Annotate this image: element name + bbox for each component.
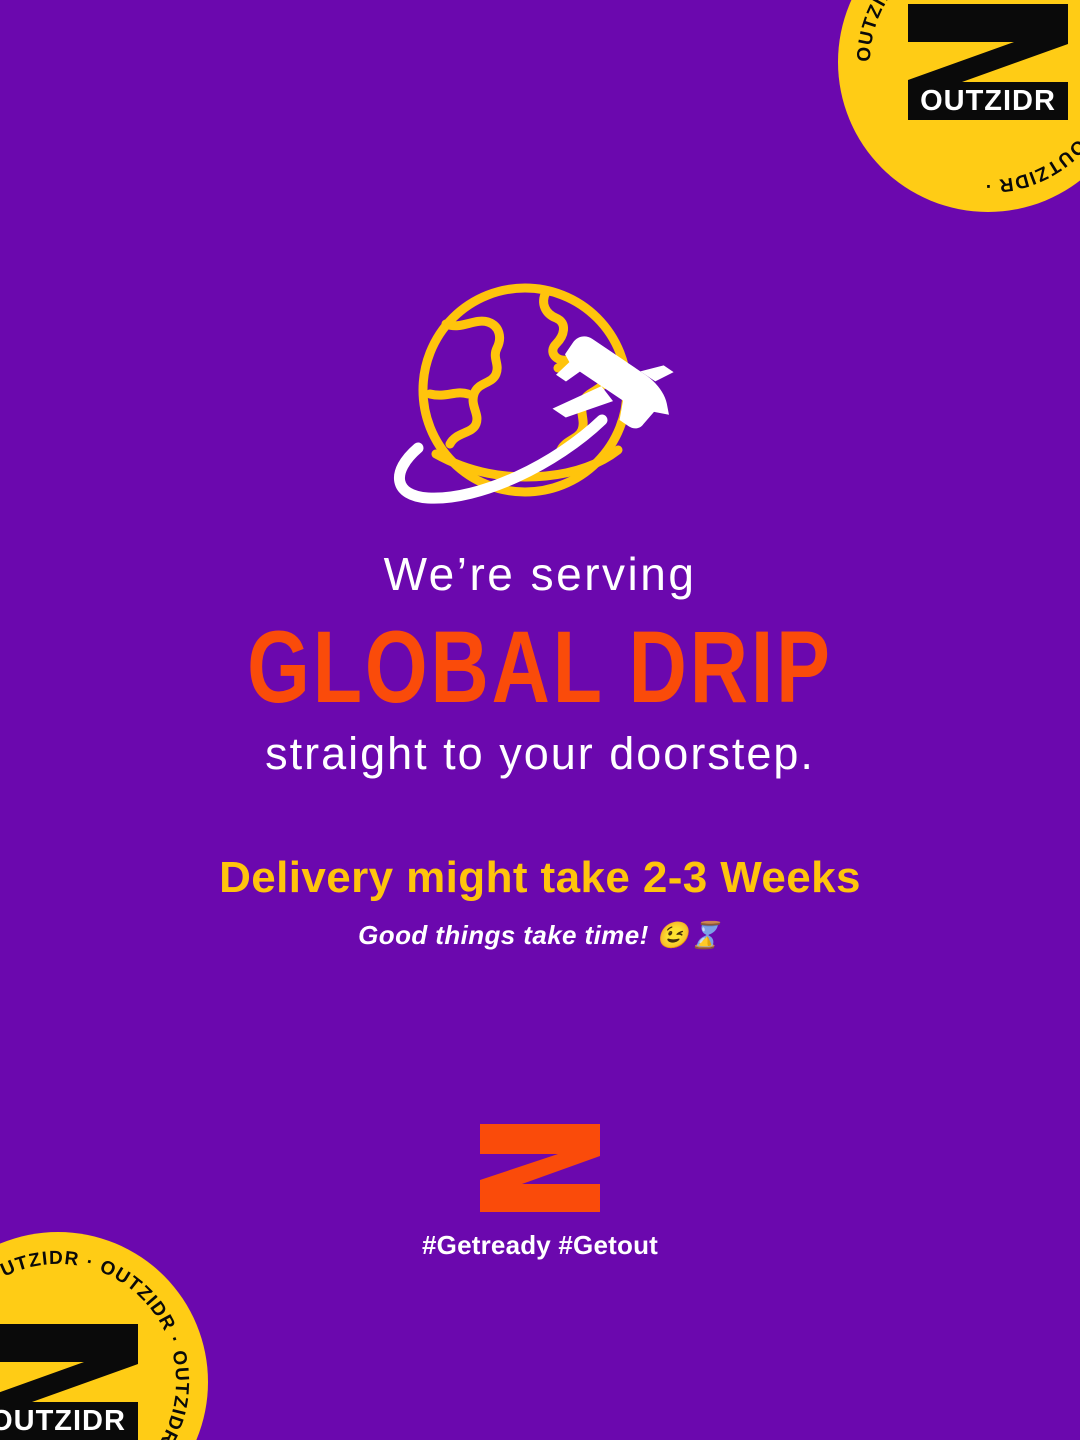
outzidr-stamp-top-right: OUTZIDR · OUTZIDR · OUTZIDR · OUTZIDR · … [838, 0, 1080, 212]
badge-core-logo: OUTZIDR [0, 1320, 142, 1440]
promo-poster: We’re serving GLOBAL DRIP straight to yo… [0, 0, 1080, 1440]
globe-with-airplane-icon [350, 272, 730, 512]
outzidr-stamp-bottom-left: OUTZIDR · OUTZIDR · OUTZIDR · OUTZIDR · … [0, 1232, 208, 1440]
eyebrow-text: We’re serving [0, 548, 1080, 601]
badge-wordmark: OUTZIDR [920, 85, 1056, 117]
headline-text: GLOBAL DRIP [22, 607, 1059, 728]
subline-text: straight to your doorstep. [0, 728, 1080, 780]
z-logo-icon [478, 1122, 602, 1214]
delivery-notice: Delivery might take 2-3 Weeks [0, 852, 1080, 905]
badge-wordmark: OUTZIDR [0, 1405, 126, 1437]
copy-block: We’re serving GLOBAL DRIP straight to yo… [0, 548, 1080, 952]
reassurance-text: Good things take time! 😉⌛ [0, 919, 1080, 953]
badge-core-logo: OUTZIDR [904, 0, 1072, 124]
